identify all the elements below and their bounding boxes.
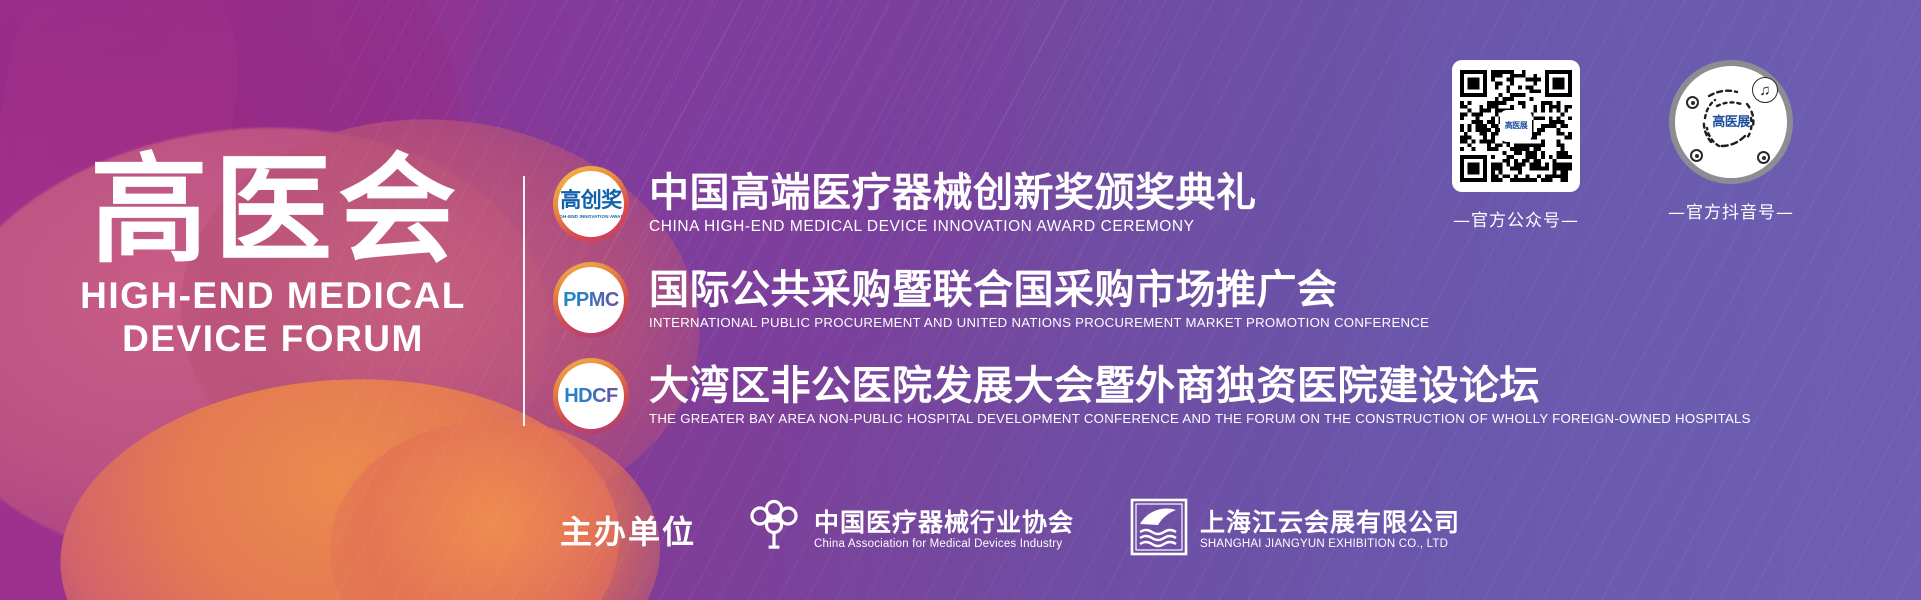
sponsor-bar: 主办单位 中国医疗器械行业协会 China Associat <box>560 498 1460 561</box>
sponsor-name-cn: 中国医疗器械行业协会 <box>814 509 1074 537</box>
conference-title-en: THE GREATER BAY AREA NON-PUBLIC HOSPITAL… <box>649 411 1751 427</box>
award-emblem-chinese: 高创奖 <box>560 190 622 211</box>
douyin-qr-caption: —官方抖音号— <box>1668 198 1794 223</box>
background-blob-orange <box>49 361 631 600</box>
award-emblem-inner: 高创奖 HIGH-END INNOVATION AWARD <box>558 171 624 237</box>
ppmc-badge-icon: PPMC <box>553 262 629 338</box>
award-emblem-subtitle: HIGH-END INNOVATION AWARD <box>558 214 624 219</box>
conference-title-cn: 国际公共采购暨联合国采购市场推广会 <box>649 269 1429 311</box>
hdcf-badge-icon: HDCF <box>553 358 629 434</box>
wechat-qr-item[interactable]: 高医展 —官方公众号— <box>1452 60 1580 231</box>
qr-center-logo: 高医展 <box>1502 112 1530 140</box>
douyin-center-logo-text: 高医展 <box>1712 116 1750 129</box>
douyin-qr-icon[interactable]: ♫ 高医展 <box>1669 60 1793 184</box>
sponsor-name-cn: 上海江云会展有限公司 <box>1200 509 1460 537</box>
qr-finder-dot <box>1757 151 1770 164</box>
conference-row: HDCF 大湾区非公医院发展大会暨外商独资医院建设论坛 THE GREATER … <box>553 352 1751 440</box>
douyin-qr-item[interactable]: ♫ 高医展 —官方抖音号— <box>1668 60 1794 223</box>
camdi-logo-icon <box>746 499 802 560</box>
qr-code-group: 高医展 —官方公众号— <box>1452 60 1794 231</box>
forum-logo-english-line1: HIGH-END MEDICAL <box>78 276 468 316</box>
conference-title-cn: 大湾区非公医院发展大会暨外商独资医院建设论坛 <box>649 365 1751 407</box>
forum-logo: 高医会 HIGH-END MEDICAL DEVICE FORUM <box>78 150 468 359</box>
sponsor-name-en: China Association for Medical Devices In… <box>814 538 1074 550</box>
sponsor-item: 上海江云会展有限公司 SHANGHAI JIANGYUN EXHIBITION … <box>1130 498 1460 561</box>
organizer-label: 主办单位 <box>560 507 696 553</box>
qr-finder-dot <box>1690 149 1703 162</box>
hdcf-badge-abbr: HDCF <box>564 386 618 406</box>
forum-logo-english-line2: DEVICE FORUM <box>78 319 468 359</box>
jiangyun-logo-icon <box>1130 498 1188 561</box>
conference-text: 国际公共采购暨联合国采购市场推广会 INTERNATIONAL PUBLIC P… <box>649 269 1429 331</box>
conference-title-en: CHINA HIGH-END MEDICAL DEVICE INNOVATION… <box>649 218 1257 237</box>
sponsor-text: 中国医疗器械行业协会 China Association for Medical… <box>814 509 1074 551</box>
conference-title-en: INTERNATIONAL PUBLIC PROCUREMENT AND UNI… <box>649 315 1429 331</box>
conference-row: PPMC 国际公共采购暨联合国采购市场推广会 INTERNATIONAL PUB… <box>553 256 1751 344</box>
sponsor-item: 中国医疗器械行业协会 China Association for Medical… <box>746 499 1074 560</box>
wechat-qr-icon[interactable]: 高医展 <box>1452 60 1580 192</box>
wechat-qr-caption: —官方公众号— <box>1453 206 1579 231</box>
award-emblem-icon: 高创奖 HIGH-END INNOVATION AWARD <box>553 166 629 242</box>
ppmc-badge-abbr: PPMC <box>563 290 619 310</box>
sponsor-name-en: SHANGHAI JIANGYUN EXHIBITION CO., LTD <box>1200 538 1460 550</box>
qr-finder-dot <box>1686 96 1699 109</box>
conference-text: 中国高端医疗器械创新奖颁奖典礼 CHINA HIGH-END MEDICAL D… <box>649 172 1257 237</box>
music-note-icon: ♫ <box>1752 77 1778 103</box>
forum-logo-chinese: 高医会 <box>78 150 468 270</box>
qr-center-logo-text: 高医展 <box>1505 122 1528 130</box>
event-banner: 高医会 HIGH-END MEDICAL DEVICE FORUM 高创奖 HI… <box>0 0 1921 600</box>
ppmc-badge-inner: PPMC <box>558 267 624 333</box>
vertical-divider <box>523 176 525 426</box>
hdcf-badge-inner: HDCF <box>558 363 624 429</box>
sponsor-text: 上海江云会展有限公司 SHANGHAI JIANGYUN EXHIBITION … <box>1200 509 1460 551</box>
conference-text: 大湾区非公医院发展大会暨外商独资医院建设论坛 THE GREATER BAY A… <box>649 365 1751 427</box>
conference-title-cn: 中国高端医疗器械创新奖颁奖典礼 <box>649 172 1257 214</box>
